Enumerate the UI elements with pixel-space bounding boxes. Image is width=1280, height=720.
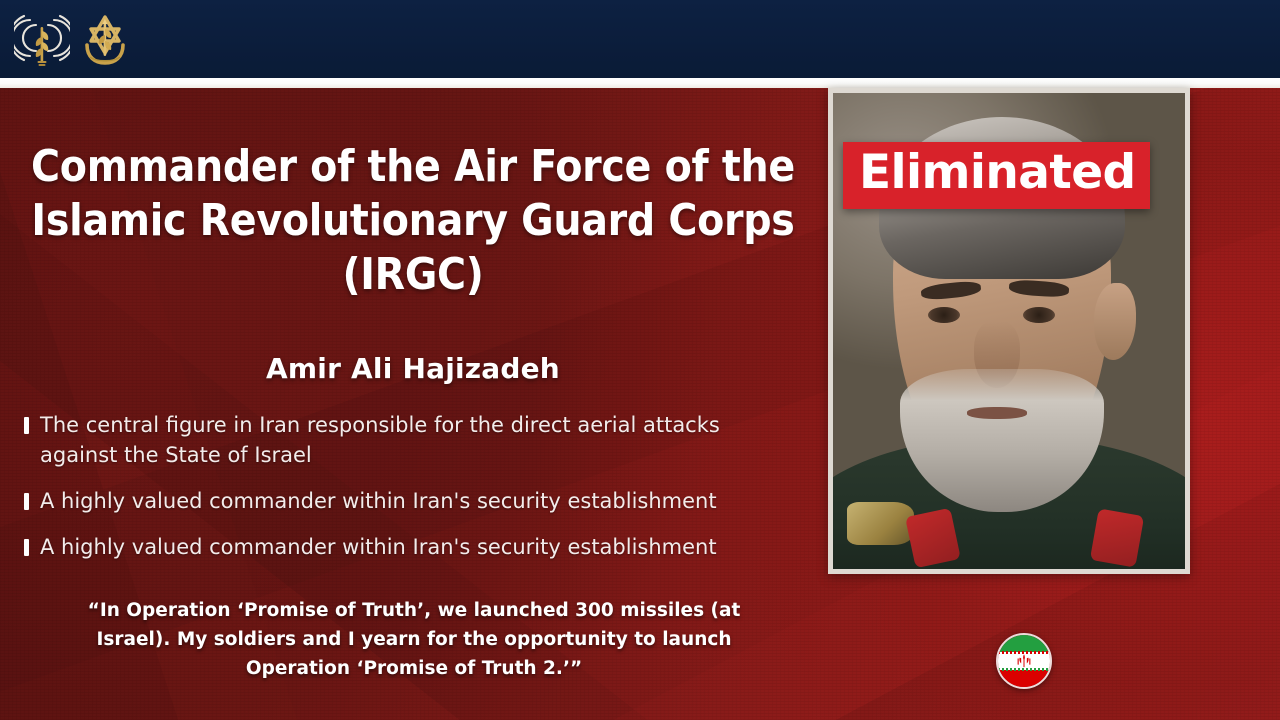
- status-badge: Eliminated: [843, 142, 1150, 209]
- list-item: The central figure in Iran responsible f…: [24, 410, 804, 470]
- top-header-bar: [0, 0, 1280, 78]
- slide-root: Commander of the Air Force of the Islami…: [0, 0, 1280, 720]
- portrait-rank-patch-right: [1089, 508, 1143, 568]
- list-item: A highly valued commander within Iran's …: [24, 486, 804, 516]
- person-name: Amir Ali Hajizadeh: [18, 352, 808, 385]
- iran-flag-badge-icon: [996, 633, 1052, 689]
- idf-emblem-icon: [76, 9, 134, 69]
- portrait-epaulette: [847, 502, 914, 545]
- flag-stripe-red: [998, 670, 1050, 687]
- page-title: Commander of the Air Force of the Islami…: [18, 140, 808, 302]
- text-column: Commander of the Air Force of the Islami…: [0, 88, 820, 720]
- flag-center-emblem-icon: [1015, 653, 1033, 669]
- header-divider: [0, 78, 1280, 88]
- portrait-mouth: [967, 407, 1027, 418]
- bullet-marker-icon: [24, 539, 29, 556]
- list-item-label: A highly valued commander within Iran's …: [40, 532, 717, 562]
- bullet-marker-icon: [24, 417, 29, 434]
- list-item: A highly valued commander within Iran's …: [24, 532, 804, 562]
- list-item-label: The central figure in Iran responsible f…: [40, 410, 780, 470]
- quote-text: “In Operation ‘Promise of Truth’, we lau…: [74, 596, 754, 683]
- bullet-list: The central figure in Iran responsible f…: [24, 410, 804, 578]
- idf-spokesperson-unit-emblem-icon: [14, 9, 70, 69]
- list-item-label: A highly valued commander within Iran's …: [40, 486, 717, 516]
- bullet-marker-icon: [24, 493, 29, 510]
